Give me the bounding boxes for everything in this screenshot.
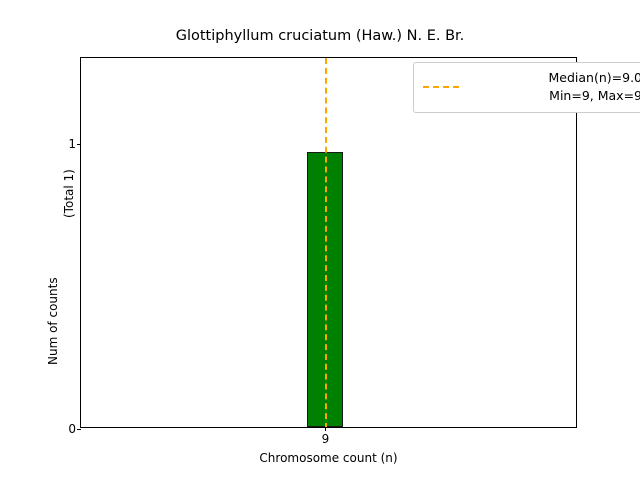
ytick-mark-0 <box>77 429 81 430</box>
chart-title: Glottiphyllum cruciatum (Haw.) N. E. Br. <box>0 29 640 44</box>
plot-inner <box>81 58 576 427</box>
xtick-label-9: 9 <box>322 433 330 445</box>
chart-figure: Glottiphyllum cruciatum (Haw.) N. E. Br.… <box>0 0 640 480</box>
y-axis-label-total: (Total 1) <box>63 169 75 218</box>
y-axis-label-primary: Num of counts <box>47 277 59 365</box>
ytick-label-0: 0 <box>68 423 76 435</box>
ytick-label-1: 1 <box>68 138 76 150</box>
x-axis-label: Chromosome count (n) <box>80 452 577 464</box>
dashed-line-icon <box>423 86 459 88</box>
legend-median-label: Median(n)=9.0 <box>468 69 640 87</box>
ytick-mark-1 <box>77 144 81 145</box>
legend-entry-median: Median(n)=9.0 Min=9, Max=9 <box>423 69 640 105</box>
median-line <box>325 58 327 427</box>
legend: Median(n)=9.0 Min=9, Max=9 <box>413 62 640 113</box>
legend-entry-texts: Median(n)=9.0 Min=9, Max=9 <box>468 69 640 105</box>
legend-dash-sample <box>423 81 459 93</box>
plot-area: 0 1 9 Median(n)=9.0 Min=9, Max=9 <box>80 57 577 428</box>
legend-minmax-label: Min=9, Max=9 <box>468 87 640 105</box>
xtick-mark-9 <box>325 427 326 431</box>
